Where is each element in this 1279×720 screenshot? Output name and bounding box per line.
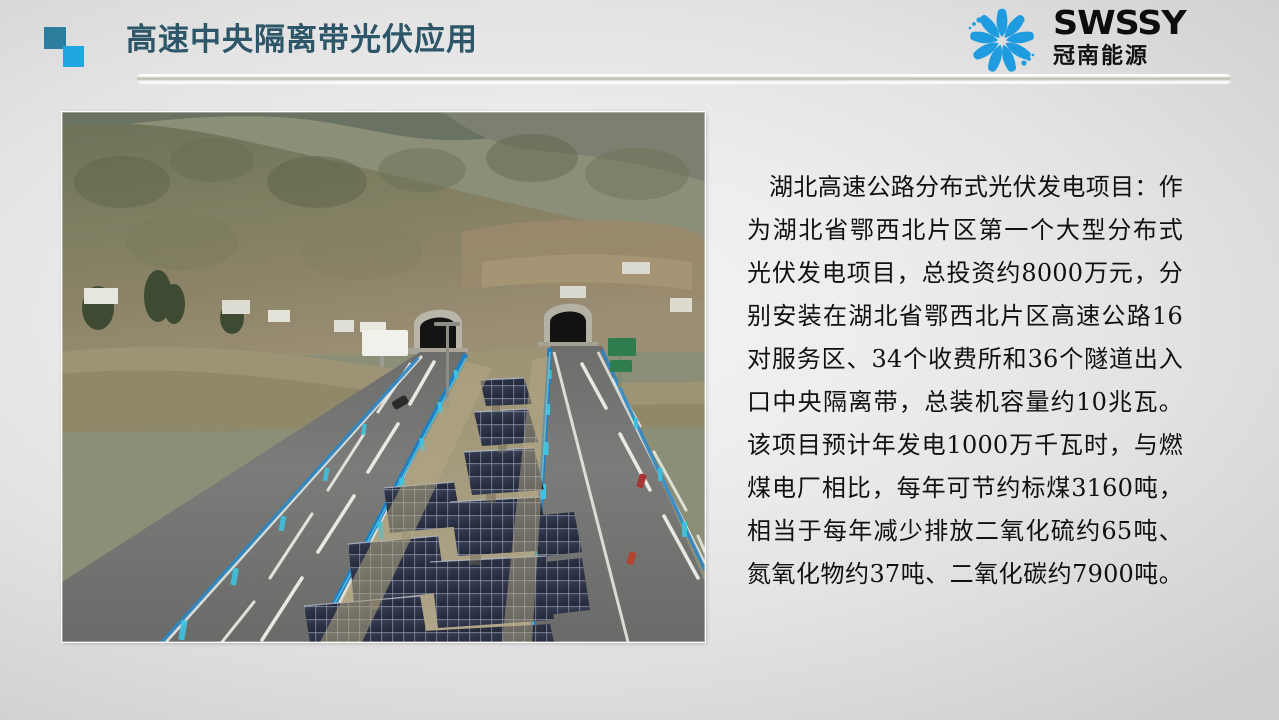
paragraph-line: 别安装在湖北省鄂西北片区高速公路16 (747, 295, 1183, 338)
paragraph-line: 该项目预计年发电1000万千瓦时，与燃 (747, 424, 1183, 467)
title-decoration (44, 27, 92, 67)
slide-canvas: 高速中央隔离带光伏应用 (0, 0, 1279, 720)
paragraph-line: 口中央隔离带，总装机容量约10兆瓦。 (747, 381, 1183, 424)
logo-company-name: 冠南能源 (1053, 41, 1221, 71)
paragraph-line: 为湖北省鄂西北片区第一个大型分布式 (747, 209, 1183, 252)
highway-solar-photo (62, 112, 705, 642)
page-title: 高速中央隔离带光伏应用 (126, 18, 478, 62)
logo-wordmark: SWSSY (1053, 5, 1231, 40)
paragraph-line: 氮氧化物约37吨、二氧化碳约7900吨。 (747, 553, 1183, 596)
water-droplet-burst-icon (961, 4, 1043, 76)
decor-square-light-icon (63, 46, 84, 67)
photo-illustration (62, 112, 705, 642)
description-paragraph: 湖北高速公路分布式光伏发电项目：作 为湖北省鄂西北片区第一个大型分布式 光伏发电… (747, 166, 1183, 596)
paragraph-line: 相当于每年减少排放二氧化硫约65吨、 (747, 510, 1183, 553)
paragraph-line: 湖北高速公路分布式光伏发电项目：作 (747, 166, 1183, 209)
paragraph-line: 煤电厂相比，每年可节约标煤3160吨， (747, 467, 1183, 510)
slide-header: 高速中央隔离带光伏应用 (0, 0, 1279, 92)
paragraph-line: 对服务区、34个收费所和36个隧道出入 (747, 338, 1183, 381)
brand-logo: SWSSY 冠南能源 (961, 4, 1221, 76)
logo-text-block: SWSSY 冠南能源 (1053, 5, 1221, 71)
paragraph-line: 光伏发电项目，总投资约8000万元，分 (747, 252, 1183, 295)
